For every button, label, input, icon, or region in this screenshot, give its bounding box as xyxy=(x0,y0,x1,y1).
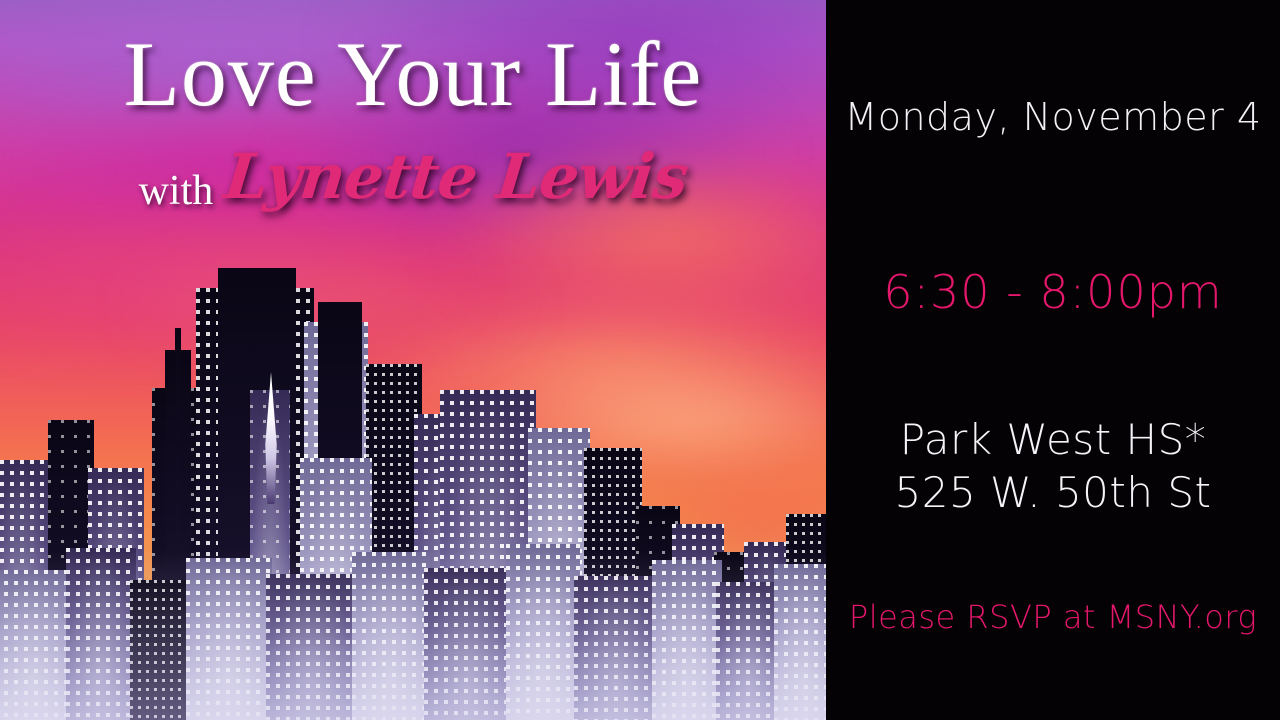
building-foreground xyxy=(424,568,512,720)
building-foreground xyxy=(66,548,136,720)
building-foreground xyxy=(130,580,192,720)
page-title: Love Your Life xyxy=(0,28,826,120)
event-address: 525 W. 50th St xyxy=(826,468,1280,517)
building-foreground xyxy=(574,576,658,720)
host-byline: withLynette Lewis xyxy=(0,140,826,215)
event-flyer-slide: Love Your Life withLynette Lewis Monday,… xyxy=(0,0,1280,720)
building-foreground xyxy=(266,574,358,720)
building-foreground xyxy=(0,570,72,720)
building-foreground xyxy=(774,564,826,720)
event-venue: Park West HS* xyxy=(826,415,1280,464)
event-details-panel: Monday, November 4 6:30 - 8:00pm Park We… xyxy=(826,0,1280,720)
building-foreground xyxy=(186,558,272,720)
host-name: Lynette Lewis xyxy=(221,140,691,213)
city-skyline xyxy=(0,180,826,720)
skyline-artwork-panel: Love Your Life withLynette Lewis xyxy=(0,0,826,720)
event-time: 6:30 - 8:00pm xyxy=(826,265,1280,319)
byline-with-label: with xyxy=(139,168,214,214)
rsvp-link[interactable]: Please RSVP at MSNY.org xyxy=(826,598,1280,636)
event-date: Monday, November 4 xyxy=(826,95,1280,139)
building-foreground xyxy=(716,582,782,720)
title-lockup: Love Your Life withLynette Lewis xyxy=(0,0,826,230)
building-foreground xyxy=(352,552,430,720)
building-foreground xyxy=(652,560,722,720)
building-foreground xyxy=(506,544,580,720)
